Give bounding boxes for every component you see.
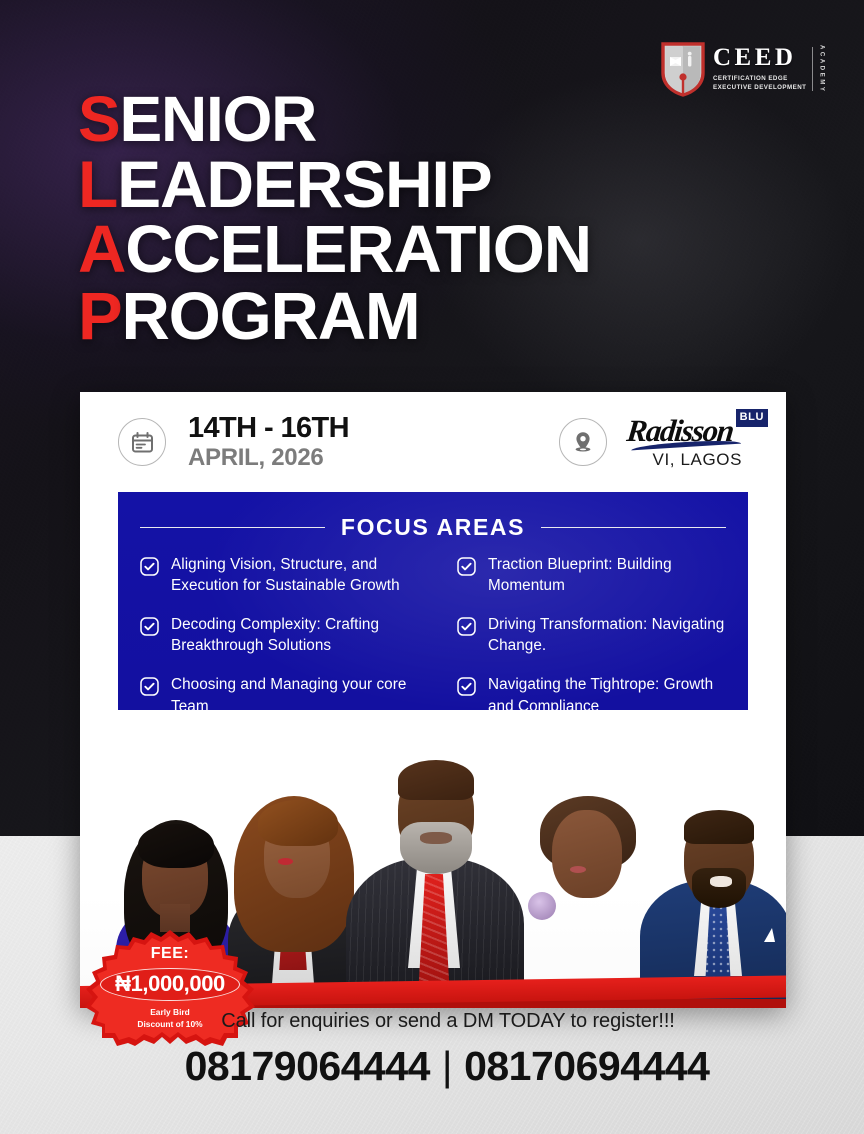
fee-amount: ₦1,000,000	[115, 972, 225, 996]
check-icon	[457, 557, 476, 576]
title-acronym-s: S	[78, 83, 120, 155]
logo-divider	[812, 47, 813, 92]
list-item-label: Traction Blueprint: Building Momentum	[488, 554, 734, 596]
title-acronym-a: A	[78, 212, 125, 287]
call-to-action-text: Call for enquiries or send a DM TODAY to…	[32, 1010, 864, 1033]
list-item: Traction Blueprint: Building Momentum	[457, 554, 734, 596]
title-line3-rest: CCELERATION	[125, 212, 591, 287]
list-item-label: Aligning Vision, Structure, and Executio…	[171, 554, 437, 596]
logo-vertical-label: ACADEMY	[818, 45, 824, 94]
venue-badge: BLU	[736, 409, 768, 427]
fee-amount-ring: ₦1,000,000	[100, 968, 240, 1001]
list-item-label: Decoding Complexity: Crafting Breakthrou…	[171, 614, 437, 656]
list-item: Decoding Complexity: Crafting Breakthrou…	[140, 614, 437, 656]
venue-city: VI, LAGOS	[627, 450, 768, 470]
focus-areas-header: FOCUS AREAS	[118, 514, 748, 541]
title-line-senior: SENIOR	[78, 88, 778, 151]
location-pin-icon	[559, 418, 607, 466]
list-item: Driving Transformation: Navigating Chang…	[457, 614, 734, 656]
check-icon	[140, 557, 159, 576]
check-icon	[140, 677, 159, 696]
title-line4-rest: ROGRAM	[122, 279, 420, 354]
fee-label: FEE:	[151, 946, 189, 962]
focus-column-right: Traction Blueprint: Building Momentum Dr…	[437, 554, 734, 735]
focus-column-left: Aligning Vision, Structure, and Executio…	[140, 554, 437, 735]
event-info-row: 14TH - 16TH APRIL, 2026 Radisson BLU VI,…	[80, 392, 786, 492]
logo-tagline-line1: CERTIFICATION EDGE	[713, 74, 806, 84]
check-icon	[140, 617, 159, 636]
focus-areas-heading: FOCUS AREAS	[341, 514, 525, 541]
list-item: Aligning Vision, Structure, and Executio…	[140, 554, 437, 596]
title-acronym-p: P	[78, 279, 122, 354]
focus-areas-columns: Aligning Vision, Structure, and Executio…	[118, 554, 748, 735]
speaker-photo	[636, 782, 786, 1008]
check-icon	[457, 677, 476, 696]
phone-number-primary[interactable]: 08179064444	[185, 1043, 430, 1089]
contact-phone-numbers: 08179064444|08170694444	[30, 1043, 864, 1090]
title-line2-rest: EADERSHIP	[117, 147, 491, 221]
calendar-icon	[118, 418, 166, 466]
title-acronym-l: L	[78, 147, 117, 221]
list-item-label: Driving Transformation: Navigating Chang…	[488, 614, 734, 656]
page-title: SENIOR LEADERSHIP ACCELERATION PROGRAM	[78, 88, 778, 350]
logo-brand: CEED	[713, 45, 806, 70]
phone-separator: |	[430, 1043, 464, 1089]
header-rule-right	[541, 527, 726, 528]
event-venue: Radisson BLU VI, LAGOS	[559, 415, 786, 470]
date-range: 14TH - 16TH	[188, 414, 349, 444]
event-date: 14TH - 16TH APRIL, 2026	[188, 414, 349, 470]
check-icon	[457, 617, 476, 636]
contact-footer: Call for enquiries or send a DM TODAY to…	[0, 1010, 864, 1090]
phone-number-secondary[interactable]: 08170694444	[464, 1043, 709, 1089]
title-line-leadership: LEADERSHIP	[78, 152, 778, 217]
title-line1-rest: ENIOR	[120, 83, 317, 155]
header-rule-left	[140, 527, 325, 528]
speaker-photo	[342, 736, 528, 1008]
title-line-acceleration: ACCELERATION	[78, 217, 778, 283]
title-line-program: PROGRAM	[78, 284, 778, 350]
event-details-card: 14TH - 16TH APRIL, 2026 Radisson BLU VI,…	[80, 392, 786, 1008]
date-month-year: APRIL, 2026	[188, 445, 349, 470]
